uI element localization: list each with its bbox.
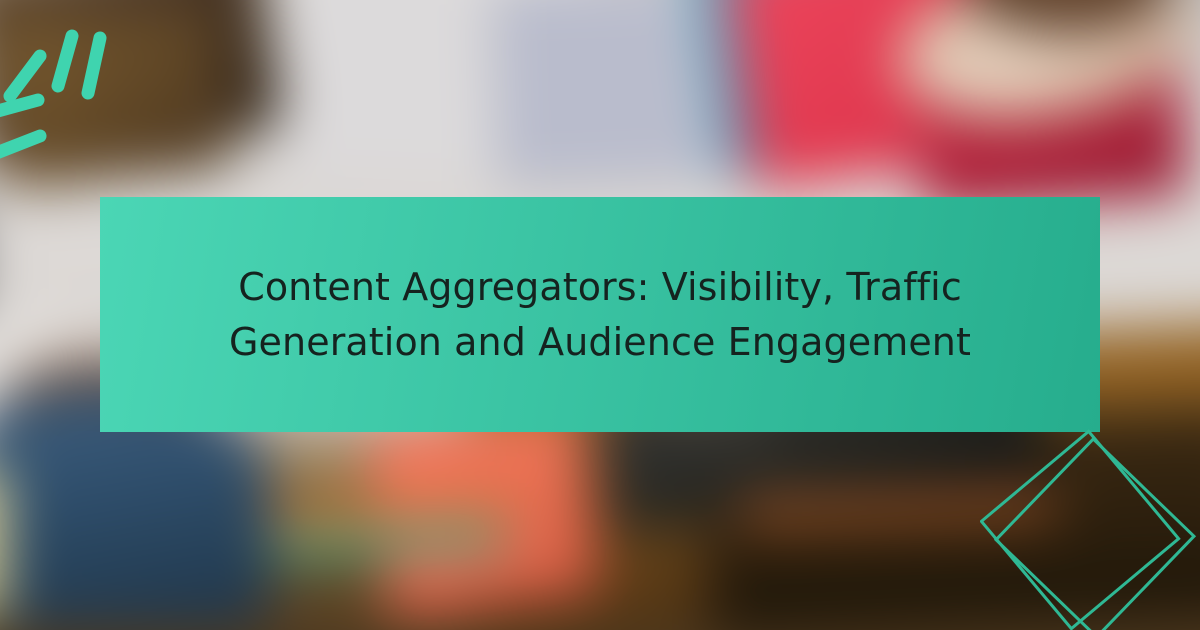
page-title: Content Aggregators: Visibility, Traffic… <box>229 260 971 370</box>
bg-shape-tablet-inner <box>0 7 231 188</box>
page-title-line-1: Content Aggregators: Visibility, Traffic <box>238 265 962 309</box>
page-title-line-2: Generation and Audience Engagement <box>229 320 971 364</box>
bg-shape-yellow-item <box>0 469 6 617</box>
title-banner: Content Aggregators: Visibility, Traffic… <box>100 197 1100 432</box>
share-card-canvas: Content Aggregators: Visibility, Traffic… <box>0 0 1200 630</box>
